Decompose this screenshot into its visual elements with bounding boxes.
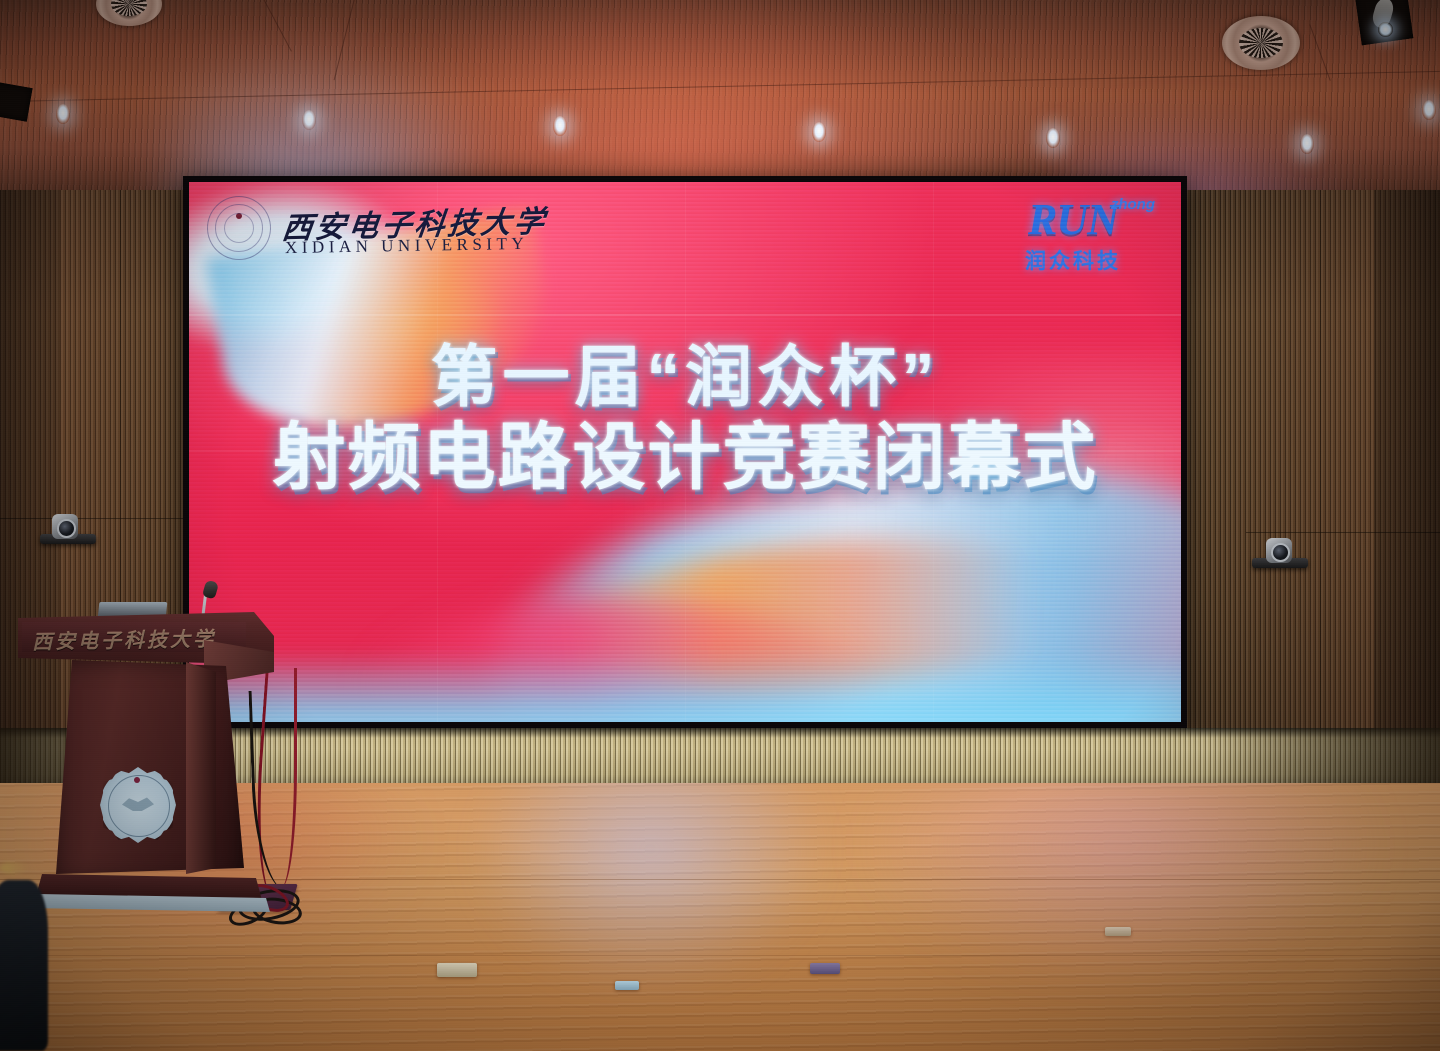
downlight-icon [1046, 128, 1060, 148]
floor-socket-plate [810, 963, 840, 974]
foreground-glint [0, 862, 28, 874]
led-screen: 西安电子科技大学 XIDIAN UNIVERSITY zhong RUN 润众科… [189, 182, 1181, 722]
floor-seam [0, 955, 1440, 956]
camera-lens-icon [1271, 543, 1290, 562]
ceiling [0, 0, 1440, 196]
emblem-dot-icon [134, 777, 140, 783]
foreground-person-silhouette [0, 880, 48, 1051]
downlight-icon [812, 122, 826, 142]
downlight-icon [302, 110, 316, 130]
ceiling-light-slot [0, 80, 33, 121]
ceiling-blue-glow [170, 40, 500, 196]
floor-socket-plate [615, 981, 639, 990]
floor-socket-plate [437, 963, 477, 977]
podium: 西安电子科技大学 [18, 612, 274, 924]
downlight-icon [1422, 100, 1436, 120]
podium-body-edge [186, 662, 216, 880]
stage-front-shade-right [1210, 728, 1440, 786]
xidian-university-emblem [100, 767, 176, 843]
led-screen-frame: 西安电子科技大学 XIDIAN UNIVERSITY zhong RUN 润众科… [183, 176, 1187, 732]
downlight-icon [553, 116, 567, 136]
wall-panel-seam [1320, 190, 1321, 805]
camera-lens-icon [57, 519, 76, 538]
floor-reflection-pink [860, 783, 1380, 983]
floor-reflection-blue [470, 783, 830, 993]
floor-socket-plate [1105, 927, 1131, 936]
ceiling-vent-icon [1222, 16, 1300, 70]
auditorium-photo: 西安电子科技大学 XIDIAN UNIVERSITY zhong RUN 润众科… [0, 0, 1440, 1051]
wall-shadow-right [1374, 190, 1440, 805]
downlight-icon [56, 104, 70, 124]
led-scanline-texture [189, 182, 1181, 722]
spotlight-beam-icon [1378, 22, 1393, 37]
downlight-icon [1300, 134, 1314, 154]
